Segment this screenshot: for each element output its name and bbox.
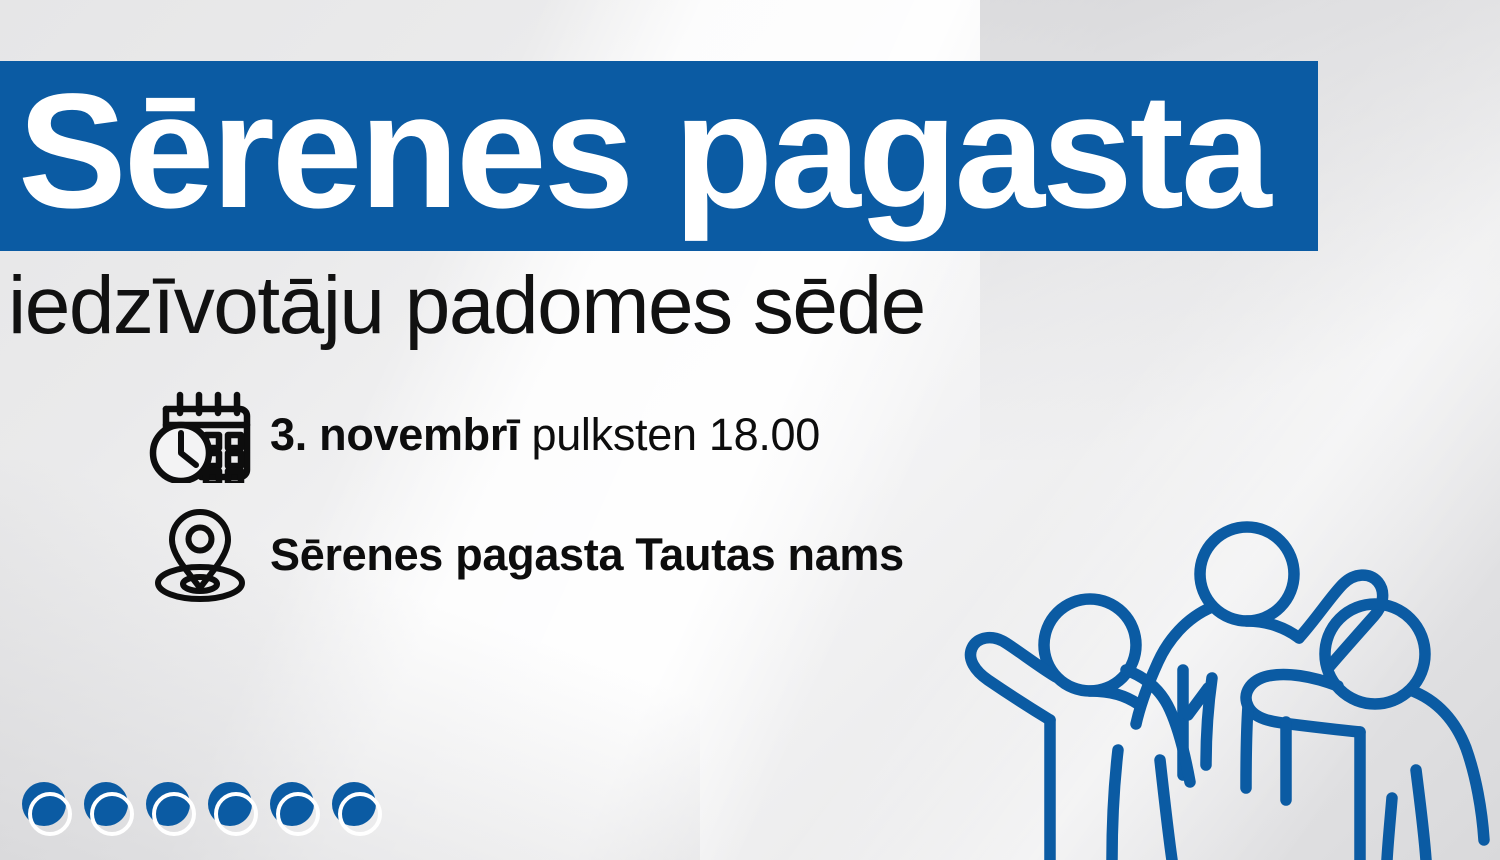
event-time: pulksten 18.00 (519, 409, 820, 460)
event-datetime-text: 3. novembrī pulksten 18.00 (270, 409, 820, 461)
decorative-circle (332, 782, 380, 830)
decorative-circle (270, 782, 318, 830)
circle-ring (276, 792, 320, 836)
poster-canvas: Sērenes pagasta iedzīvotāju padomes sēde (0, 0, 1500, 860)
circle-ring (152, 792, 196, 836)
decorative-circle (22, 782, 70, 830)
page-subtitle: iedzīvotāju padomes sēde (8, 258, 925, 354)
page-title: Sērenes pagasta (18, 56, 1269, 246)
circle-ring (28, 792, 72, 836)
three-people-raised-arms-icon (950, 510, 1500, 860)
event-venue: Sērenes pagasta Tautas nams (270, 529, 904, 580)
circle-ring (90, 792, 134, 836)
circle-ring (214, 792, 258, 836)
calendar-clock-icon (140, 387, 260, 483)
decorative-circle (84, 782, 132, 830)
event-datetime-row: 3. novembrī pulksten 18.00 (140, 385, 904, 485)
event-location-text: Sērenes pagasta Tautas nams (270, 529, 904, 581)
location-pin-icon (140, 504, 260, 606)
event-details: 3. novembrī pulksten 18.00 (140, 385, 904, 605)
decorative-circle (146, 782, 194, 830)
decorative-circle (208, 782, 256, 830)
title-banner: Sērenes pagasta (0, 61, 1318, 251)
event-location-row: Sērenes pagasta Tautas nams (140, 505, 904, 605)
circle-ring (338, 792, 382, 836)
decorative-circle-row (22, 782, 380, 830)
event-date: 3. novembrī (270, 409, 519, 460)
